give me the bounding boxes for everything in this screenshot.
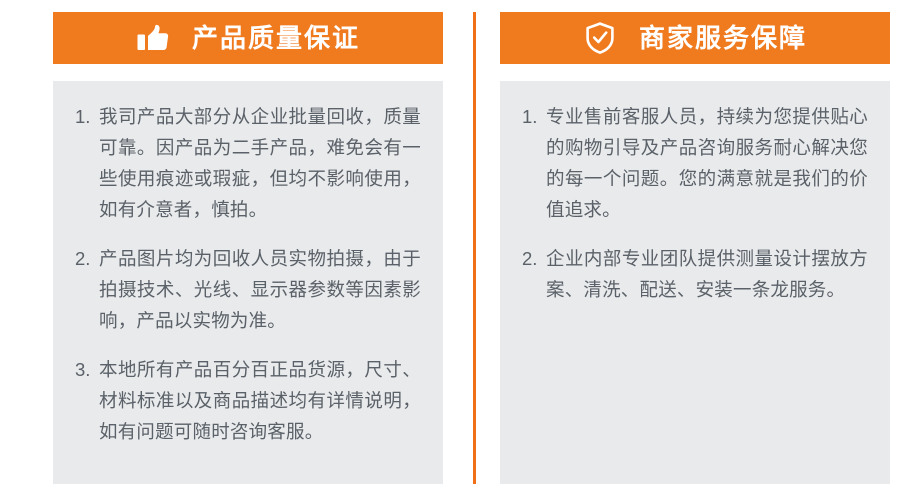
thumbs-up-icon xyxy=(136,21,170,55)
list-item-marker: 2. xyxy=(522,243,546,274)
guarantee-list: 1. 我司产品大部分从企业批量回收，质量可靠。因产品为二手产品，难免会有一些使用… xyxy=(75,101,421,447)
list-item-marker: 3. xyxy=(75,354,99,385)
list-item-text: 产品图片均为回收人员实物拍摄，由于拍摄技术、光线、显示器参数等因素影响，产品以实… xyxy=(99,243,421,336)
panel-title: 产品质量保证 xyxy=(192,25,360,51)
panel-header-merchant-service: 商家服务保障 xyxy=(500,12,890,64)
list-item-marker: 1. xyxy=(75,101,99,132)
list-item: 2. 产品图片均为回收人员实物拍摄，由于拍摄技术、光线、显示器参数等因素影响，产… xyxy=(75,243,421,336)
list-item-text: 企业内部专业团队提供测量设计摆放方案、清洗、配送、安装一条龙服务。 xyxy=(546,243,868,305)
list-item-marker: 1. xyxy=(522,101,546,132)
panel-merchant-service: 商家服务保障 1. 专业售前客服人员，持续为您提供贴心的购物引导及产品咨询服务耐… xyxy=(500,12,890,484)
panel-header-product-quality: 产品质量保证 xyxy=(53,12,443,64)
panel-body-product-quality: 1. 我司产品大部分从企业批量回收，质量可靠。因产品为二手产品，难免会有一些使用… xyxy=(53,81,443,484)
guarantee-list: 1. 专业售前客服人员，持续为您提供贴心的购物引导及产品咨询服务耐心解决您的每一… xyxy=(522,101,868,305)
panel-title: 商家服务保障 xyxy=(639,25,807,51)
list-item: 2. 企业内部专业团队提供测量设计摆放方案、清洗、配送、安装一条龙服务。 xyxy=(522,243,868,305)
list-item: 3. 本地所有产品百分百正品货源，尺寸、材料标准以及商品描述均有详情说明，如有问… xyxy=(75,354,421,447)
panel-product-quality: 产品质量保证 1. 我司产品大部分从企业批量回收，质量可靠。因产品为二手产品，难… xyxy=(53,12,443,484)
vertical-divider xyxy=(473,12,476,484)
guarantee-board: 产品质量保证 1. 我司产品大部分从企业批量回收，质量可靠。因产品为二手产品，难… xyxy=(0,0,921,496)
shield-check-icon xyxy=(583,21,617,55)
list-item-text: 专业售前客服人员，持续为您提供贴心的购物引导及产品咨询服务耐心解决您的每一个问题… xyxy=(546,101,868,225)
panel-body-merchant-service: 1. 专业售前客服人员，持续为您提供贴心的购物引导及产品咨询服务耐心解决您的每一… xyxy=(500,81,890,484)
list-item: 1. 专业售前客服人员，持续为您提供贴心的购物引导及产品咨询服务耐心解决您的每一… xyxy=(522,101,868,225)
list-item-text: 本地所有产品百分百正品货源，尺寸、材料标准以及商品描述均有详情说明，如有问题可随… xyxy=(99,354,421,447)
list-item-text: 我司产品大部分从企业批量回收，质量可靠。因产品为二手产品，难免会有一些使用痕迹或… xyxy=(99,101,421,225)
list-item: 1. 我司产品大部分从企业批量回收，质量可靠。因产品为二手产品，难免会有一些使用… xyxy=(75,101,421,225)
list-item-marker: 2. xyxy=(75,243,99,274)
